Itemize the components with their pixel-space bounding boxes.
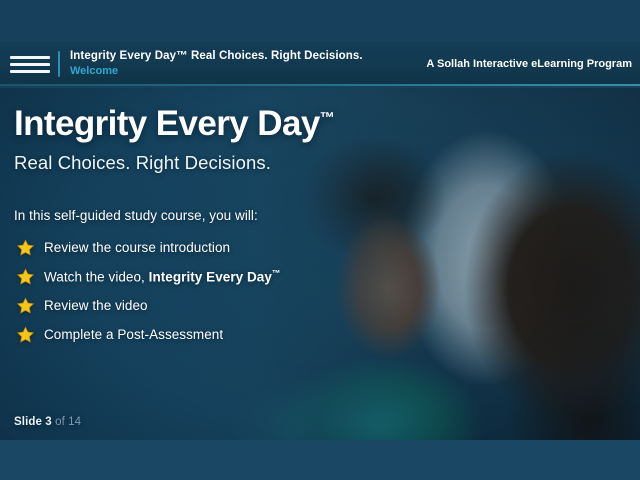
slide-number: 3 [45, 416, 52, 428]
header-title-group: Integrity Every Day™ Real Choices. Right… [70, 50, 363, 78]
section-label: Welcome [70, 65, 363, 78]
elearning-player: Integrity Every Day™ Real Choices. Right… [0, 0, 640, 480]
hamburger-bar-3 [10, 70, 50, 73]
trademark-symbol: ™ [272, 268, 281, 278]
list-item-label: Review the course introduction [44, 240, 230, 255]
star-icon [17, 268, 34, 285]
hamburger-bar-2 [10, 63, 50, 66]
star-icon [17, 326, 34, 343]
slide-lead-text: In this self-guided study course, you wi… [14, 208, 374, 223]
slide-stage: Integrity Every Day™ Real Choices. Right… [0, 88, 640, 440]
list-item: Review the course introduction [14, 239, 374, 256]
star-icon [17, 297, 34, 314]
objectives-list: Review the course introduction Watch the… [14, 239, 374, 343]
list-item-label: Watch the video, Integrity Every Day™ [44, 268, 280, 285]
list-item-label: Complete a Post-Assessment [44, 327, 223, 342]
course-title: Integrity Every Day™ Real Choices. Right… [70, 50, 363, 63]
letterbox-bottom [0, 440, 640, 480]
header-divider [58, 51, 60, 77]
slide-word: Slide [14, 416, 42, 428]
trademark-symbol: ™ [320, 109, 335, 126]
hamburger-menu-icon[interactable] [6, 50, 54, 79]
list-item: Complete a Post-Assessment [14, 326, 374, 343]
letterbox-top [0, 0, 640, 42]
list-item: Review the video [14, 297, 374, 314]
list-item-label: Review the video [44, 298, 148, 313]
star-icon [17, 239, 34, 256]
slide-title-text: Integrity Every Day [14, 104, 320, 143]
player-header: Integrity Every Day™ Real Choices. Right… [0, 42, 640, 86]
slide-title: Integrity Every Day™ [14, 106, 374, 141]
hamburger-bar-1 [10, 56, 50, 59]
slide-counter: Slide 3 of 14 [14, 416, 81, 428]
list-item-emphasis: Integrity Every Day [149, 270, 272, 285]
slide-copy: Integrity Every Day™ Real Choices. Right… [14, 106, 374, 355]
slide-total: 14 [68, 416, 81, 428]
slide-subtitle: Real Choices. Right Decisions. [14, 152, 374, 174]
brand-line: A Sollah Interactive eLearning Program [426, 58, 632, 70]
list-item: Watch the video, Integrity Every Day™ [14, 268, 374, 285]
of-word: of [55, 416, 65, 428]
